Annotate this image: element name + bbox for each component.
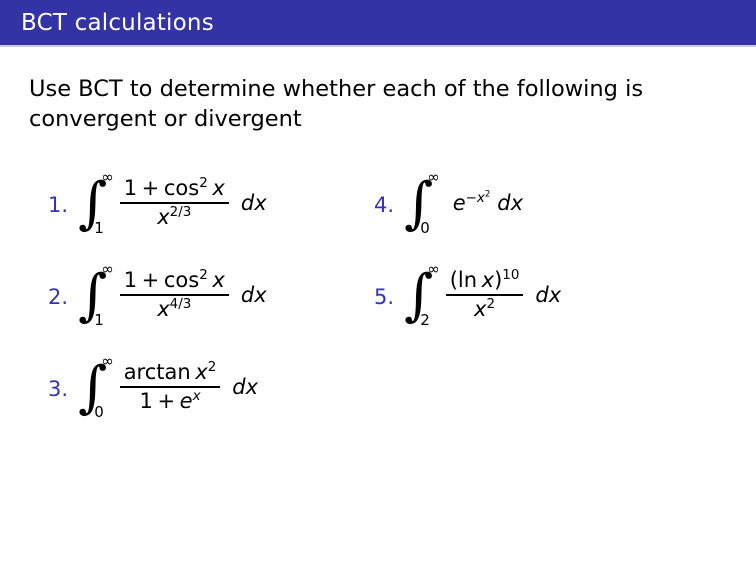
denominator-exponent: 4/3 (170, 297, 192, 312)
differential: dx (241, 191, 267, 215)
numerator-plus: + (142, 268, 160, 292)
math-expression-3: ∫ ∞ 0 arctanx2 1+ex dx (78, 356, 258, 418)
integral-upper-limit: ∞ (101, 262, 114, 277)
integral-operator: ∫ ∞ 1 (78, 172, 111, 234)
list-item: 4. ∫ ∞ 0 e−x2 dx (374, 157, 714, 249)
integrand-base: e (453, 191, 466, 215)
fraction-numerator: 1+cos2x (120, 175, 229, 202)
integral-upper-limit: ∞ (101, 170, 114, 185)
fraction-numerator: arctanx2 (120, 359, 221, 386)
integral-limits: ∞ 2 (424, 264, 437, 326)
page-title: BCT calculations (21, 10, 214, 36)
differential: dx (535, 283, 561, 307)
integral-lower-limit: 0 (420, 221, 430, 236)
math-expression-4: ∫ ∞ 0 e−x2 dx (404, 172, 523, 234)
integral-operator: ∫ ∞ 2 (404, 264, 437, 326)
integrand-exponent: −x2 (466, 191, 491, 206)
denominator-exponent: 2 (486, 297, 495, 312)
math-expression-2: ∫ ∞ 1 1+cos2x x4/3 dx (78, 264, 267, 326)
integral-upper-limit: ∞ (101, 354, 114, 369)
item-number-1: 1. (48, 195, 78, 216)
fraction-denominator: x4/3 (153, 296, 195, 323)
exponent-power: 2 (485, 190, 490, 200)
differential-d: d (232, 375, 245, 399)
denominator-exponent: 2/3 (170, 205, 192, 220)
integral-operator: ∫ ∞ 0 (78, 356, 111, 418)
slide-body: Use BCT to determine whether each of the… (0, 47, 756, 567)
denominator-one: 1 (139, 389, 152, 413)
fraction-numerator: 1+cos2x (120, 267, 229, 294)
differential-x: x (511, 191, 523, 215)
differential-d: d (497, 191, 510, 215)
numerator-plus: + (142, 176, 160, 200)
integral-upper-limit: ∞ (427, 170, 440, 185)
integral-upper-limit: ∞ (427, 262, 440, 277)
numerator-open-paren: ( (450, 268, 458, 292)
differential-x: x (549, 283, 561, 307)
fraction: arctanx2 1+ex (120, 359, 221, 415)
integral-lower-limit: 2 (420, 313, 430, 328)
numerator-exponent: 2 (208, 360, 217, 375)
numerator-variable: x (212, 176, 224, 200)
denominator-variable: x (474, 297, 486, 321)
fraction-numerator: (lnx)10 (446, 267, 524, 294)
numerator-variable: x (195, 360, 207, 384)
integral-limits: ∞ 1 (98, 264, 111, 326)
integral-operator: ∫ ∞ 1 (78, 264, 111, 326)
integral-limits: ∞ 0 (424, 172, 437, 234)
differential-x: x (246, 375, 258, 399)
integral-limits: ∞ 0 (98, 356, 111, 418)
integral-lower-limit: 0 (94, 405, 104, 420)
problem-column-left: 1. ∫ ∞ 1 1+cos2x x2/3 dx (48, 157, 378, 433)
numerator-cos-exponent: 2 (199, 176, 208, 191)
item-number-3: 3. (48, 379, 78, 400)
numerator-variable: x (482, 268, 494, 292)
numerator-one: 1 (124, 176, 137, 200)
differential: dx (241, 283, 267, 307)
problem-column-right: 4. ∫ ∞ 0 e−x2 dx 5. (374, 157, 714, 341)
denominator-variable: x (157, 297, 169, 321)
differential-d: d (241, 283, 254, 307)
fraction-denominator: 1+ex (135, 388, 204, 415)
differential-d: d (535, 283, 548, 307)
list-item: 1. ∫ ∞ 1 1+cos2x x2/3 dx (48, 157, 378, 249)
numerator-cos-exponent: 2 (199, 268, 208, 283)
fraction: (lnx)10 x2 (446, 267, 524, 323)
integral-limits: ∞ 1 (98, 172, 111, 234)
differential: dx (232, 375, 258, 399)
list-item: 2. ∫ ∞ 1 1+cos2x x4/3 dx (48, 249, 378, 341)
math-expression-1: ∫ ∞ 1 1+cos2x x2/3 dx (78, 172, 267, 234)
integral-operator: ∫ ∞ 0 (404, 172, 437, 234)
differential: dx (497, 191, 523, 215)
item-number-2: 2. (48, 287, 78, 308)
differential-x: x (254, 191, 266, 215)
item-number-5: 5. (374, 287, 404, 308)
exponent-sign: − (466, 191, 477, 206)
exponent-variable: x (477, 191, 485, 206)
numerator-cos: cos (164, 268, 199, 292)
numerator-exponent: 10 (502, 268, 519, 283)
list-item: 3. ∫ ∞ 0 arctanx2 1+ex dx (48, 341, 378, 433)
fraction: 1+cos2x x2/3 (120, 175, 229, 231)
differential-d: d (241, 191, 254, 215)
integral-lower-limit: 1 (94, 313, 104, 328)
list-item: 5. ∫ ∞ 2 (lnx)10 x2 dx (374, 249, 714, 341)
denominator-variable: x (157, 205, 169, 229)
denominator-plus: + (157, 389, 175, 413)
fraction-denominator: x2 (470, 296, 499, 323)
denominator-exponent: x (193, 389, 201, 404)
fraction: 1+cos2x x4/3 (120, 267, 229, 323)
denominator-base: e (180, 389, 193, 413)
math-expression-5: ∫ ∞ 2 (lnx)10 x2 dx (404, 264, 561, 326)
numerator-one: 1 (124, 268, 137, 292)
numerator-cos: cos (164, 176, 199, 200)
differential-x: x (254, 283, 266, 307)
integral-lower-limit: 1 (94, 221, 104, 236)
slide-title-bar: BCT calculations (0, 0, 756, 45)
numerator-function: ln (458, 268, 477, 292)
integrand: e−x2 (453, 191, 491, 215)
numerator-variable: x (212, 268, 224, 292)
item-number-4: 4. (374, 195, 404, 216)
numerator-function: arctan (124, 360, 191, 384)
instruction-text: Use BCT to determine whether each of the… (29, 75, 719, 134)
fraction-denominator: x2/3 (153, 204, 195, 231)
